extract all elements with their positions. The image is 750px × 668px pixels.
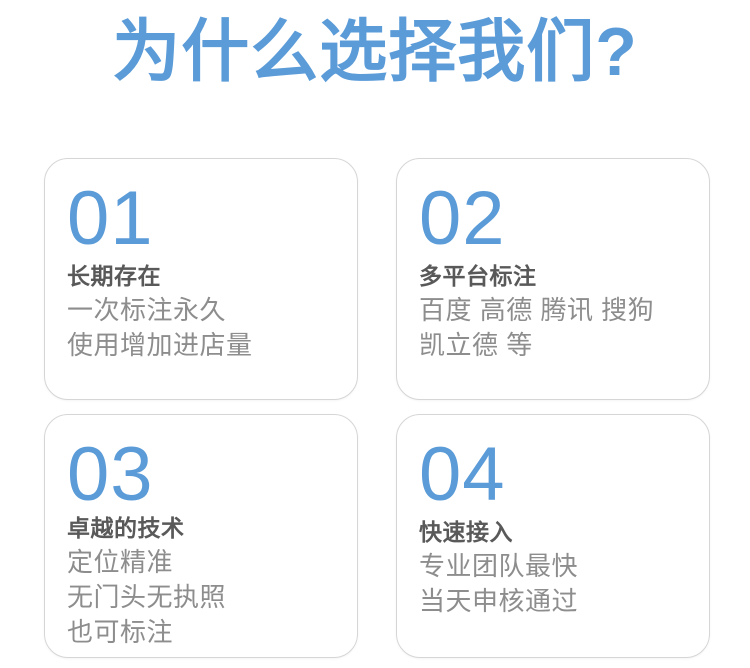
feature-card-01-title: 长期存在 bbox=[67, 261, 337, 291]
feature-card-grid: 01 长期存在 一次标注永久 使用增加进店量 02 多平台标注 百度 高德 腾讯… bbox=[44, 158, 710, 658]
page-title: 为什么选择我们? bbox=[0, 12, 750, 92]
feature-card-02-title: 多平台标注 bbox=[419, 261, 689, 291]
feature-card-01: 01 长期存在 一次标注永久 使用增加进店量 bbox=[44, 158, 358, 400]
feature-card-01-body-line-2: 使用增加进店量 bbox=[67, 328, 337, 363]
feature-card-03-title: 卓越的技术 bbox=[67, 513, 337, 543]
feature-card-02-body-line-2: 凯立德 等 bbox=[419, 328, 689, 363]
feature-card-01-body-line-1: 一次标注永久 bbox=[67, 293, 337, 328]
feature-card-03: 03 卓越的技术 定位精准 无门头无执照 也可标注 bbox=[44, 414, 358, 658]
feature-card-04-body-line-1: 专业团队最快 bbox=[419, 549, 689, 584]
feature-card-04-title: 快速接入 bbox=[419, 517, 689, 547]
feature-card-04-body-line-2: 当天申核通过 bbox=[419, 584, 689, 619]
feature-card-04-body: 专业团队最快 当天申核通过 bbox=[419, 549, 689, 619]
feature-card-02-body: 百度 高德 腾讯 搜狗 凯立德 等 bbox=[419, 293, 689, 363]
feature-card-03-body-line-3: 也可标注 bbox=[67, 615, 337, 650]
feature-card-02: 02 多平台标注 百度 高德 腾讯 搜狗 凯立德 等 bbox=[396, 158, 710, 400]
feature-card-02-body-line-1: 百度 高德 腾讯 搜狗 bbox=[419, 293, 689, 328]
feature-card-03-number: 03 bbox=[67, 439, 337, 511]
feature-card-04: 04 快速接入 专业团队最快 当天申核通过 bbox=[396, 414, 710, 658]
feature-card-01-number: 01 bbox=[67, 183, 337, 255]
feature-card-03-body-line-2: 无门头无执照 bbox=[67, 580, 337, 615]
feature-card-03-body: 定位精准 无门头无执照 也可标注 bbox=[67, 545, 337, 650]
promo-page: 为什么选择我们? 01 长期存在 一次标注永久 使用增加进店量 02 多平台标注… bbox=[0, 0, 750, 668]
feature-card-04-number: 04 bbox=[419, 439, 689, 511]
feature-card-01-body: 一次标注永久 使用增加进店量 bbox=[67, 293, 337, 363]
feature-card-02-number: 02 bbox=[419, 183, 689, 255]
feature-card-03-body-line-1: 定位精准 bbox=[67, 545, 337, 580]
